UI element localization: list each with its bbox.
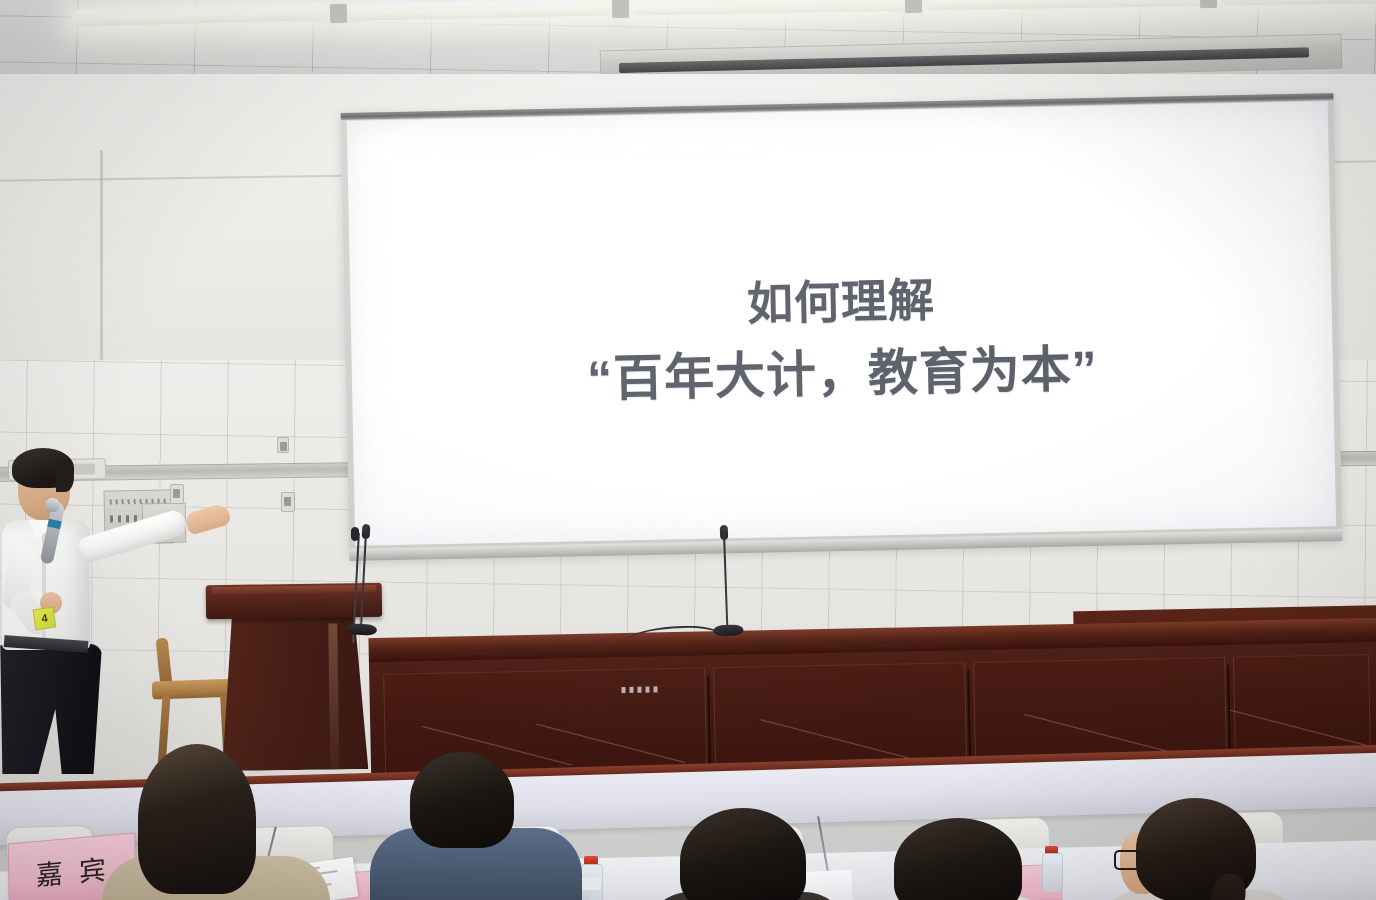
audience-hair [138,744,256,894]
table-nameplate-slot [621,686,657,693]
presenter-hair [12,448,74,488]
panel-chevron-motif [759,716,910,761]
wall-outlet-3[interactable] [277,437,289,453]
slide-title-line-1: 如何理解 [350,261,1332,344]
audience-hair [894,818,1022,900]
presenter-right-arm [74,508,189,566]
light-fixture-joint [1200,0,1217,8]
wall-outlet-2[interactable] [281,492,295,512]
bottle-label [581,878,601,890]
audience-member-3 [664,808,824,900]
presenter-right-hand [184,502,232,535]
lecture-hall-photo: 如何理解 “百年大计，教育为本” 4 [0,0,1376,900]
name-card-char-2: 宾 [79,847,109,889]
audience-member-5 [1112,798,1292,900]
projection-screen[interactable]: 如何理解 “百年大计，教育为本” [341,93,1343,561]
slide-content: 如何理解 “百年大计，教育为本” [350,261,1334,419]
presenter-trousers [0,644,102,774]
lectern-top-face [212,585,376,594]
audience-hair [410,752,514,848]
name-card-char-1: 嘉 [36,851,66,893]
light-fixture-joint [612,0,629,18]
bottle-body [1042,853,1063,892]
light-fixture-joint [905,0,922,13]
lectern[interactable] [206,583,385,771]
audience-member-2 [392,752,552,900]
audience-member-4 [880,818,1040,900]
panel-chevron-motif [1023,711,1174,756]
water-bottle-secondary[interactable] [1040,846,1064,890]
slide-title-line-2: “百年大计，教育为本” [351,331,1333,420]
eyeglasses-icon [1114,850,1160,867]
audience-member-1 [118,744,308,900]
light-fixture-joint [330,4,347,23]
lectern-microphone-icon[interactable] [351,527,359,541]
screen-surface: 如何理解 “百年大计，教育为本” [347,101,1336,546]
contestant-number-badge: 4 [33,607,57,631]
panel-chevron-motif [535,721,686,766]
audience-hair [680,808,806,900]
